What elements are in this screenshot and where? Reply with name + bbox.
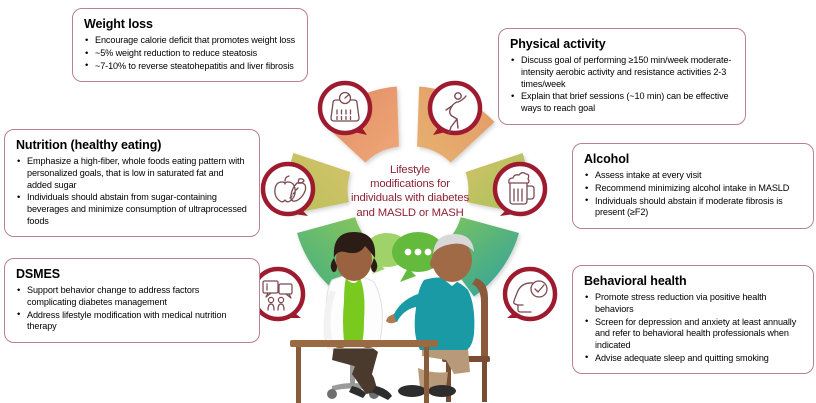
list-item: Individuals should abstain if moderate f…	[584, 196, 803, 219]
bullet-list-dsmes: Support behavior change to address facto…	[16, 285, 249, 333]
card-physical-activity: Physical activity Discuss goal of perfor…	[498, 28, 746, 125]
card-title-behavioral-health: Behavioral health	[584, 274, 803, 288]
weight-scale-icon[interactable]	[316, 80, 374, 138]
bullet-list-physical-activity: Discuss goal of performing ≥150 min/week…	[510, 55, 735, 114]
beer-mug-icon[interactable]	[491, 161, 549, 219]
center-title-line-1: Lifestyle	[330, 163, 490, 177]
infographic-canvas: Lifestyle modifications for individuals …	[0, 0, 816, 403]
card-weight-loss: Weight loss Encourage calorie deficit th…	[72, 8, 308, 82]
head-check-icon[interactable]	[501, 266, 559, 324]
center-title-line-3: individuals with diabetes	[330, 191, 490, 205]
speech-bubbles-icon	[365, 232, 444, 282]
list-item: Encourage calorie deficit that promotes …	[84, 35, 297, 47]
card-alcohol: Alcohol Assess intake at every visit Rec…	[572, 143, 814, 229]
card-title-dsmes: DSMES	[16, 267, 249, 281]
apple-carrot-icon[interactable]	[259, 161, 317, 219]
list-item: Discuss goal of performing ≥150 min/week…	[510, 55, 735, 90]
card-behavioral-health: Behavioral health Promote stress reducti…	[572, 265, 814, 374]
card-title-alcohol: Alcohol	[584, 152, 803, 166]
list-item: Explain that brief sessions (~10 min) ca…	[510, 91, 735, 114]
bullet-list-behavioral-health: Promote stress reduction via positive he…	[584, 292, 803, 364]
list-item: Recommend minimizing alcohol intake in M…	[584, 183, 803, 195]
list-item: Address lifestyle modification with medi…	[16, 310, 249, 333]
list-item: Assess intake at every visit	[584, 170, 803, 182]
bullet-list-weight-loss: Encourage calorie deficit that promotes …	[84, 35, 297, 72]
card-title-weight-loss: Weight loss	[84, 17, 297, 31]
clinician-patient-illustration	[290, 228, 522, 403]
list-item: Individuals should abstain from sugar-co…	[16, 192, 249, 227]
list-item: ~7-10% to reverse steatohepatitis and li…	[84, 61, 297, 73]
card-dsmes: DSMES Support behavior change to address…	[4, 258, 260, 343]
card-title-physical-activity: Physical activity	[510, 37, 735, 51]
center-title-line-2: modifications for	[330, 177, 490, 191]
bullet-list-alcohol: Assess intake at every visit Recommend m…	[584, 170, 803, 219]
card-title-nutrition: Nutrition (healthy eating)	[16, 138, 249, 152]
list-item: Advise adequate sleep and quitting smoki…	[584, 353, 803, 365]
list-item: Emphasize a high-fiber, whole foods eati…	[16, 156, 249, 191]
center-title-line-4: and MASLD or MASH	[330, 206, 490, 220]
list-item: Promote stress reduction via positive he…	[584, 292, 803, 315]
list-item: Screen for depression and anxiety at lea…	[584, 317, 803, 352]
list-item: ~5% weight reduction to reduce steatosis	[84, 48, 297, 60]
bullet-list-nutrition: Emphasize a high-fiber, whole foods eati…	[16, 156, 249, 227]
center-title: Lifestyle modifications for individuals …	[330, 163, 490, 220]
walking-person-icon[interactable]	[426, 80, 484, 138]
card-nutrition: Nutrition (healthy eating) Emphasize a h…	[4, 129, 260, 237]
list-item: Support behavior change to address facto…	[16, 285, 249, 308]
